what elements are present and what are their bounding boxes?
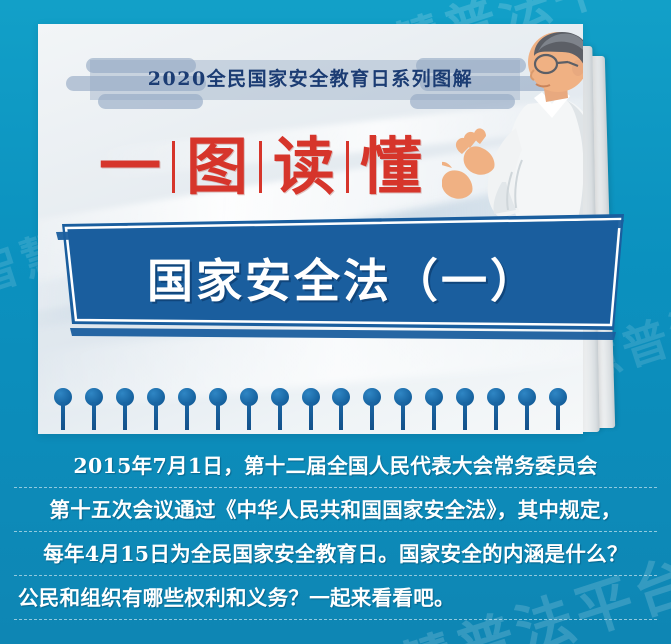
headline-yi-tu-du-dong: 一 图 读 懂 xyxy=(90,136,431,198)
binding-pin-icon xyxy=(518,388,536,430)
infographic-poster: 智慧普法平台 智慧普法平台 智慧普法平台 智慧普法平台 2020全民国家安全教育… xyxy=(0,0,671,644)
paragraph-line: 2015年7月1日，第十二届全国人民代表大会常务委员会 xyxy=(14,444,657,488)
intro-paragraph: 2015年7月1日，第十二届全国人民代表大会常务委员会 第十五次会议通过《中华人… xyxy=(0,444,671,620)
binding-pin-icon xyxy=(394,388,412,430)
headline-char-1: 一 xyxy=(90,136,170,198)
banner-title-text: 国家安全法（一） xyxy=(26,212,646,340)
poster-subtitle: 2020全民国家安全教育日系列图解 xyxy=(38,64,583,91)
binding-pin-icon xyxy=(456,388,474,430)
binding-pin-icon xyxy=(332,388,350,430)
paragraph-line: 公民和组织有哪些权利和义务？一起来看看吧。 xyxy=(14,576,657,620)
headline-char-4: 懂 xyxy=(351,136,431,198)
paragraph-line: 第十五次会议通过《中华人民共和国国家安全法》，其中规定， xyxy=(14,488,657,532)
binding-pin-icon xyxy=(425,388,443,430)
headline-separator-1 xyxy=(172,141,175,193)
binding-pin-icon xyxy=(271,388,289,430)
binding-pin-icon xyxy=(209,388,227,430)
headline-separator-3 xyxy=(346,141,349,193)
binding-pin-icon xyxy=(302,388,320,430)
main-title-banner: 国家安全法（一） xyxy=(26,212,646,340)
binding-pin-icon xyxy=(487,388,505,430)
paragraph-line: 每年4月15日为全民国家安全教育日。国家安全的内涵是什么？ xyxy=(14,532,657,576)
binding-pin-icon xyxy=(85,388,103,430)
headline-separator-2 xyxy=(259,141,262,193)
binding-pin-icon xyxy=(363,388,381,430)
headline-char-2: 图 xyxy=(177,136,257,198)
binding-pin-icon xyxy=(147,388,165,430)
binding-pin-icon xyxy=(240,388,258,430)
headline-char-3: 读 xyxy=(264,136,344,198)
binding-pin-row xyxy=(38,388,583,432)
binding-pin-icon xyxy=(178,388,196,430)
binding-pin-icon xyxy=(54,388,72,430)
binding-pin-icon xyxy=(116,388,134,430)
binding-pin-icon xyxy=(549,388,567,430)
